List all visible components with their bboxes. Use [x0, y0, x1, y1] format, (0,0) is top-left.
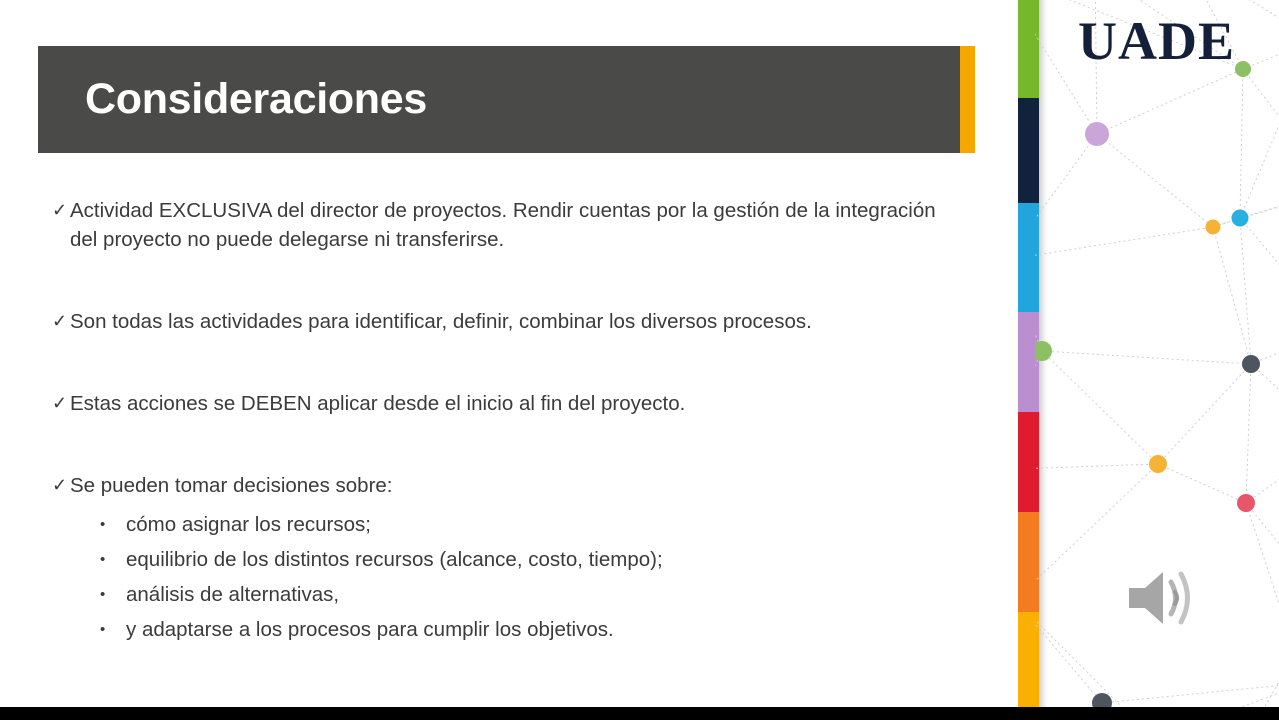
speaker-icon[interactable]	[1125, 562, 1201, 634]
node-purple	[1085, 122, 1109, 146]
network-line	[1246, 440, 1279, 503]
bullet-item: ✓ Se pueden tomar decisiones sobre:	[52, 471, 967, 500]
bullet-item: ✓ Actividad EXCLUSIVA del director de pr…	[52, 196, 967, 254]
bullet-item: ✓ Son todas las actividades para identif…	[52, 307, 967, 336]
bullet-dot-icon: •	[100, 577, 126, 612]
checkmark-icon: ✓	[52, 389, 70, 418]
network-line	[1035, 260, 1042, 351]
bullet-text: Estas acciones se DEBEN aplicar desde el…	[70, 389, 967, 418]
network-line	[1035, 464, 1158, 470]
bullet-text: Actividad EXCLUSIVA del director de proy…	[70, 196, 967, 254]
network-line	[1235, 600, 1279, 720]
sub-bullet-item: • análisis de alternativas,	[100, 577, 967, 612]
node-orange-mid	[1206, 220, 1221, 235]
network-line	[1102, 683, 1279, 703]
network-line	[1243, 69, 1279, 190]
network-line	[1035, 134, 1097, 260]
network-line	[1213, 227, 1251, 364]
node-green-top	[1235, 61, 1251, 77]
bullet-text: Son todas las actividades para identific…	[70, 307, 967, 336]
checkmark-icon: ✓	[52, 196, 70, 225]
sub-bullet-text: equilibrio de los distintos recursos (al…	[126, 542, 663, 577]
network-line	[1251, 364, 1279, 440]
uade-logo: UADE	[1078, 14, 1235, 68]
network-line	[1240, 69, 1243, 218]
sub-bullet-text: cómo asignar los recursos;	[126, 507, 371, 542]
spacer	[52, 418, 967, 471]
network-line	[1035, 351, 1042, 470]
spacer	[52, 254, 967, 307]
node-cyan-mid	[1232, 210, 1249, 227]
bullet-text: Se pueden tomar decisiones sobre:	[70, 471, 967, 500]
network-line	[1042, 351, 1251, 364]
network-line	[1097, 134, 1213, 227]
brand-side-panel: UADE	[995, 0, 1279, 720]
node-orange-low	[1149, 455, 1167, 473]
bullet-dot-icon: •	[100, 507, 126, 542]
spacer	[52, 336, 967, 389]
sub-bullet-text: y adaptarse a los procesos para cumplir …	[126, 612, 614, 647]
page-title: Consideraciones	[38, 78, 427, 121]
network-line	[1246, 503, 1279, 683]
bullet-dot-icon: •	[100, 612, 126, 647]
node-gray-right	[1242, 355, 1260, 373]
network-line	[1097, 69, 1243, 134]
title-accent-bar	[960, 46, 975, 153]
slide-title-bar: Consideraciones	[38, 46, 975, 153]
network-line	[1035, 227, 1213, 260]
letterbox-bar	[0, 707, 1279, 720]
network-line	[1240, 218, 1279, 330]
sub-bullet-list: • cómo asignar los recursos; • equilibri…	[52, 507, 967, 647]
sub-bullet-text: análisis de alternativas,	[126, 577, 339, 612]
presentation-slide: Consideraciones ✓ Actividad EXCLUSIVA de…	[0, 0, 1279, 720]
node-red-low	[1237, 494, 1255, 512]
network-line	[1158, 364, 1251, 464]
checkmark-icon: ✓	[52, 307, 70, 336]
sub-bullet-item: • cómo asignar los recursos;	[100, 507, 967, 542]
bullet-dot-icon: •	[100, 542, 126, 577]
panel-left-margin	[995, 0, 1020, 720]
network-line	[1246, 364, 1251, 503]
network-line	[1246, 503, 1279, 600]
sub-bullet-item: • equilibrio de los distintos recursos (…	[100, 542, 967, 577]
network-line	[1240, 218, 1251, 364]
sub-bullet-item: • y adaptarse a los procesos para cumpli…	[100, 612, 967, 647]
checkmark-icon: ✓	[52, 471, 70, 500]
bullet-item: ✓ Estas acciones se DEBEN aplicar desde …	[52, 389, 967, 418]
network-line	[1042, 351, 1158, 464]
network-line	[1158, 464, 1246, 503]
slide-body: ✓ Actividad EXCLUSIVA del director de pr…	[52, 196, 967, 647]
network-line	[1035, 600, 1102, 703]
